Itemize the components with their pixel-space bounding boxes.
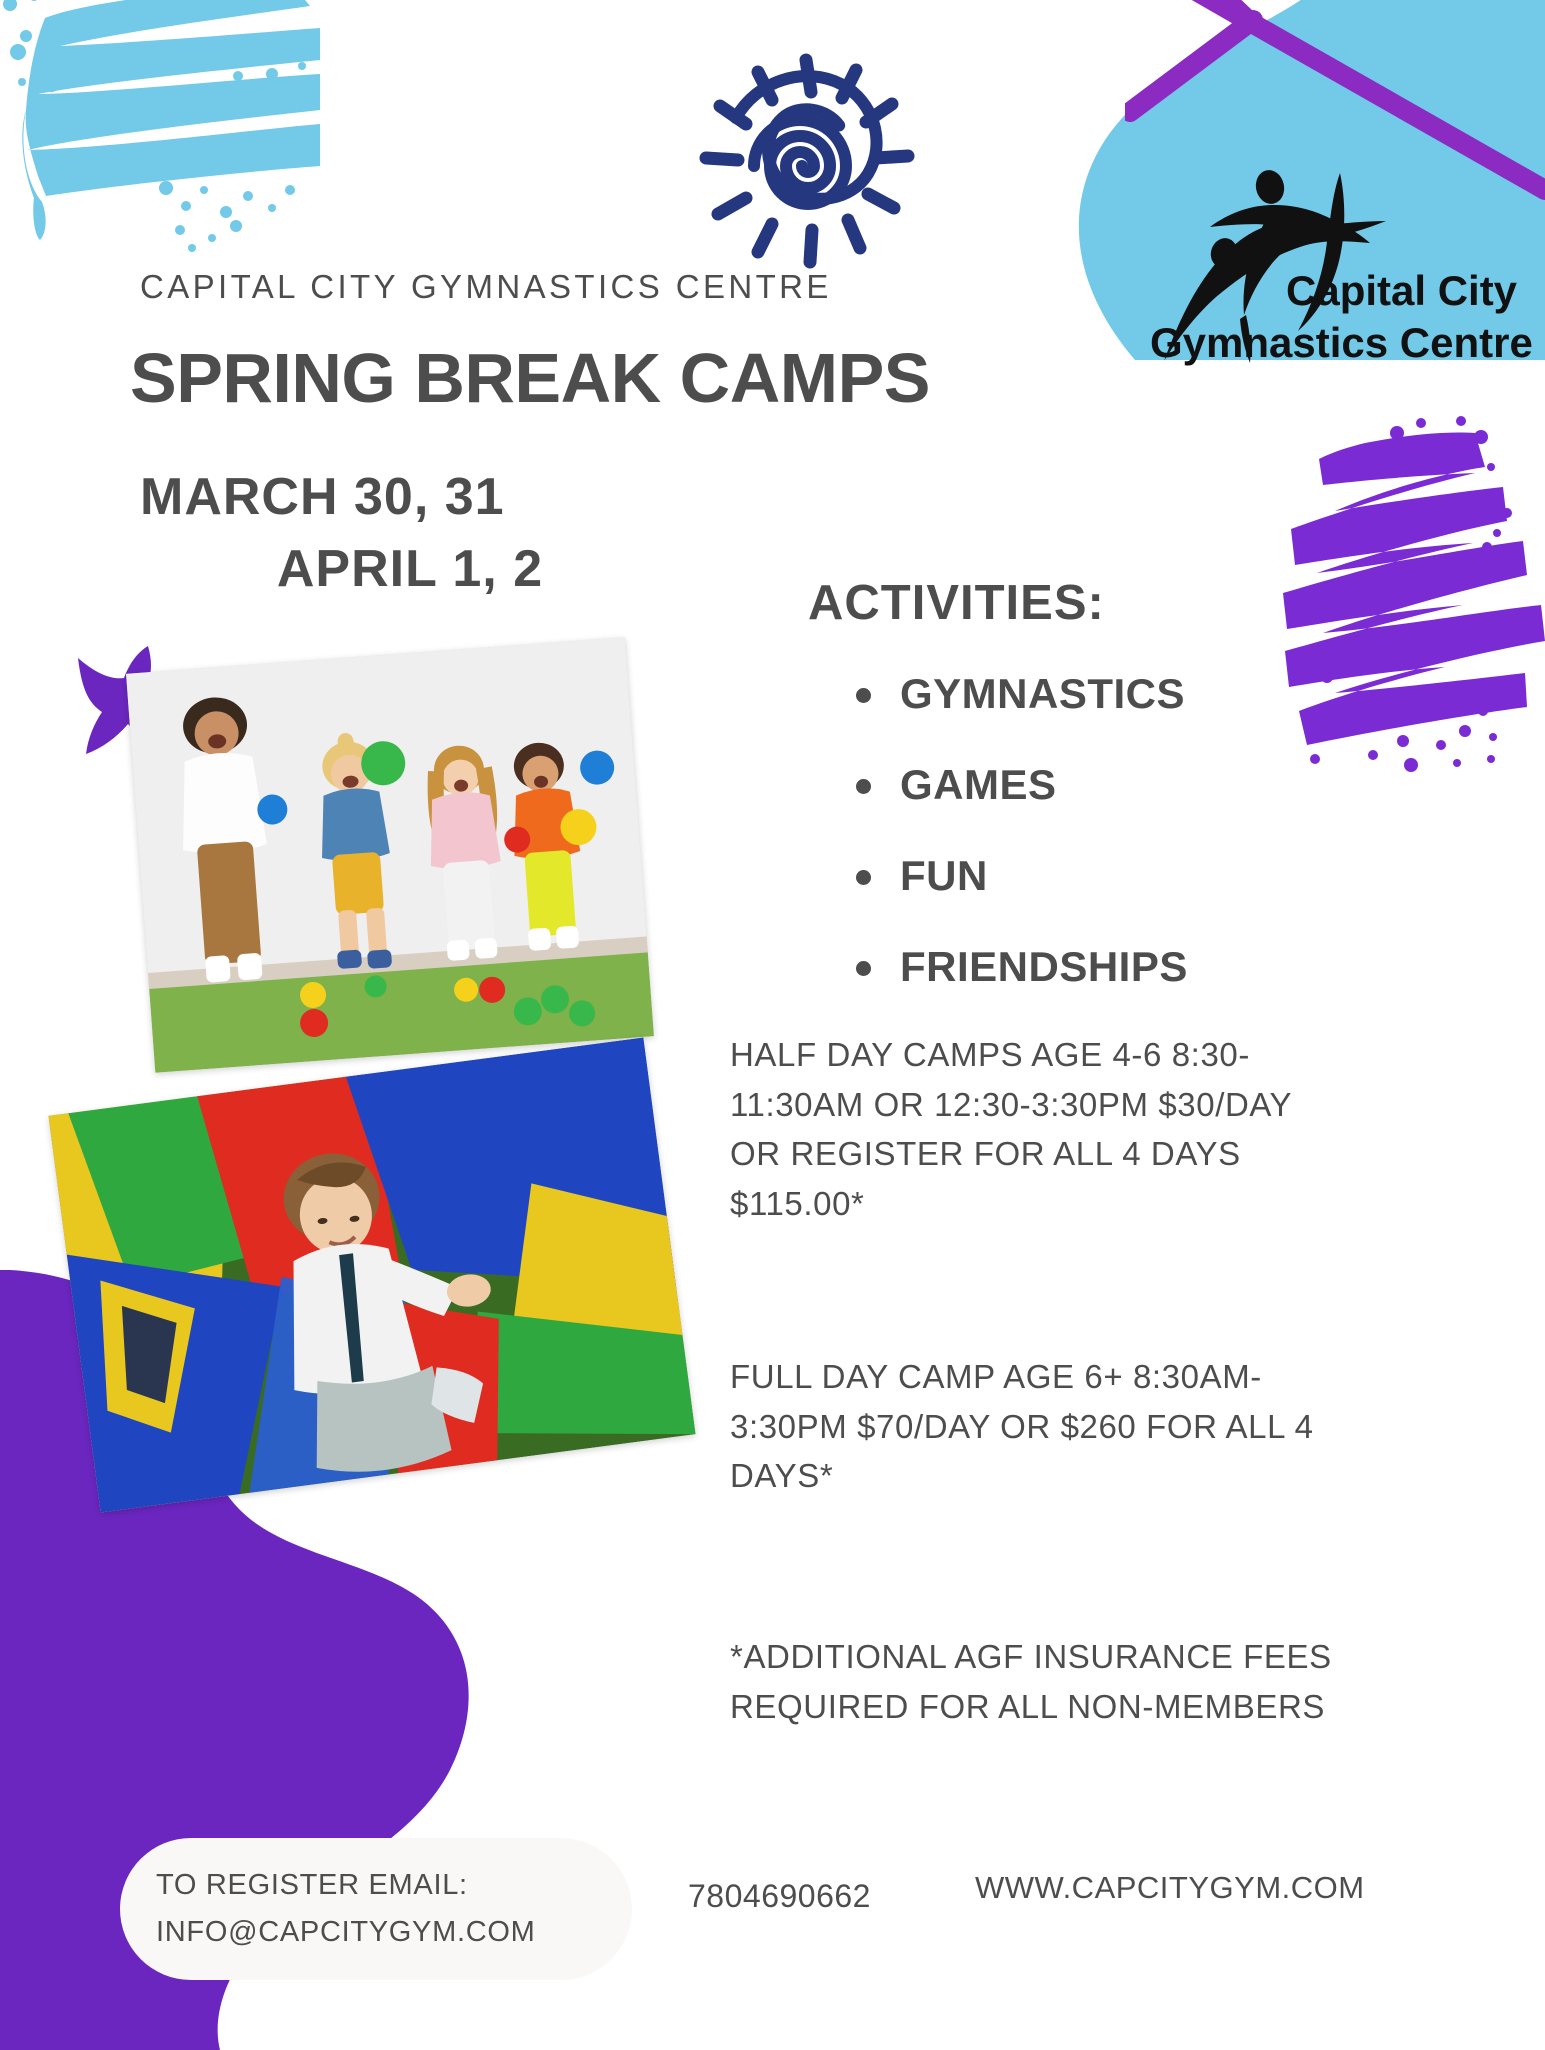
insurance-note-text: *ADDITIONAL AGF INSURANCE FEES REQUIRED … <box>730 1632 1340 1731</box>
photo-boy-under-parachute <box>48 1038 695 1513</box>
logo-line2: Gymnastics Centre <box>1150 319 1533 366</box>
half-day-camp-text: HALF DAY CAMPS AGE 4-6 8:30-11:30AM OR 1… <box>730 1030 1340 1228</box>
logo-line1: Capital City <box>1286 267 1518 314</box>
photo-children-with-balls <box>126 637 654 1073</box>
list-item: GYMNASTICS <box>848 670 1188 718</box>
full-day-camp-details: FULL DAY CAMP AGE 6+ 8:30AM-3:30PM $70/D… <box>730 1352 1340 1501</box>
camp-dates: MARCH 30, 31 APRIL 1, 2 <box>140 462 680 606</box>
purple-paint-scribble-decoration <box>1245 415 1545 780</box>
insurance-note: *ADDITIONAL AGF INSURANCE FEES REQUIRED … <box>730 1632 1340 1731</box>
capital-city-gymnastics-logo: Capital City Gymnastics Centre <box>1150 165 1545 380</box>
blue-paint-squiggle-decoration <box>0 0 320 260</box>
list-item: GAMES <box>848 761 1188 809</box>
register-contact-pill: TO REGISTER EMAIL: INFO@CAPCITYGYM.COM <box>120 1838 632 1980</box>
flyer-canvas: Capital City Gymnastics Centre CAPITAL C… <box>0 0 1545 2000</box>
list-item: FUN <box>848 852 1188 900</box>
contact-phone[interactable]: 7804690662 <box>688 1878 871 1915</box>
date-line-2: APRIL 1, 2 <box>140 534 680 606</box>
sun-spiral-icon <box>680 48 930 278</box>
register-email[interactable]: INFO@CAPCITYGYM.COM <box>156 1909 632 1956</box>
full-day-camp-text: FULL DAY CAMP AGE 6+ 8:30AM-3:30PM $70/D… <box>730 1352 1340 1501</box>
activities-list: GYMNASTICS GAMES FUN FRIENDSHIPS <box>848 670 1188 1034</box>
list-item: FRIENDSHIPS <box>848 943 1188 991</box>
half-day-camp-details: HALF DAY CAMPS AGE 4-6 8:30-11:30AM OR 1… <box>730 1030 1340 1228</box>
activities-heading: ACTIVITIES: <box>808 575 1105 631</box>
contact-website[interactable]: WWW.CAPCITYGYM.COM <box>975 1870 1365 1906</box>
register-label: TO REGISTER EMAIL: <box>156 1862 632 1909</box>
page-kicker: CAPITAL CITY GYMNASTICS CENTRE <box>140 268 832 306</box>
page-title: SPRING BREAK CAMPS <box>130 338 930 418</box>
date-line-1: MARCH 30, 31 <box>140 462 680 534</box>
